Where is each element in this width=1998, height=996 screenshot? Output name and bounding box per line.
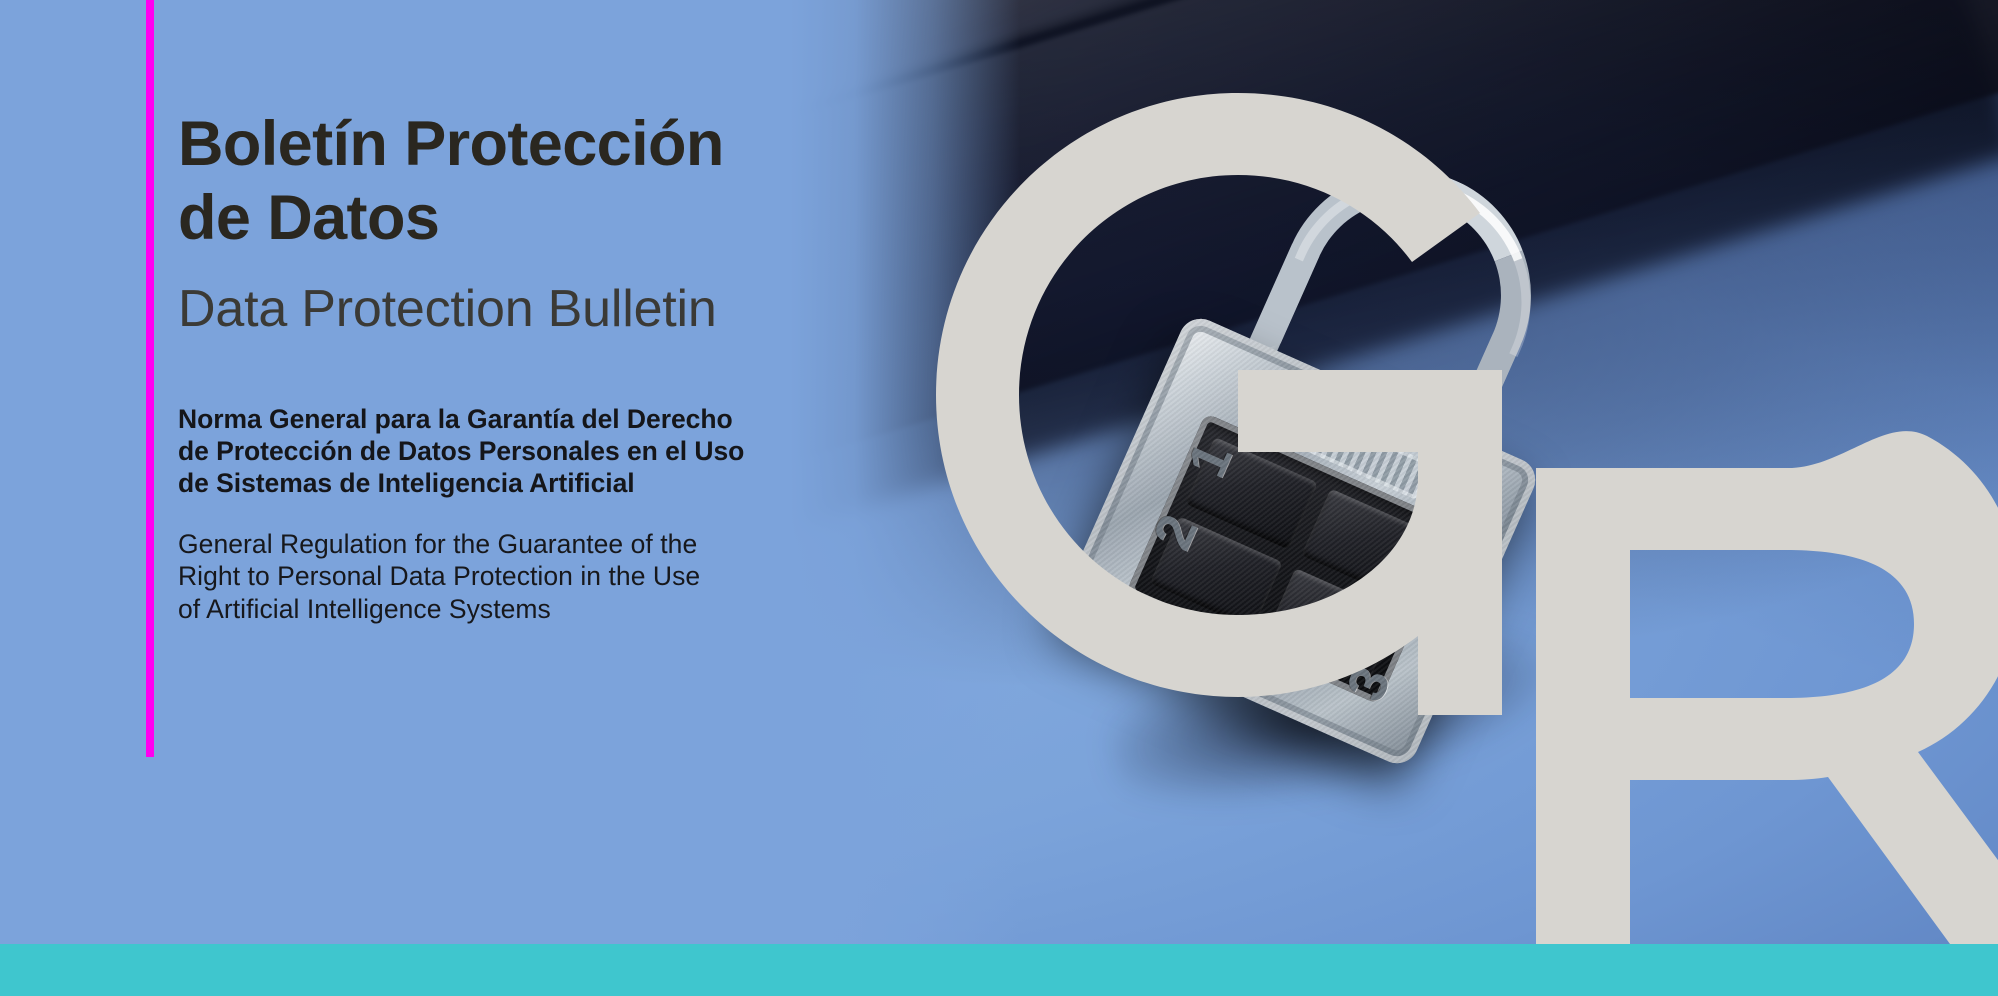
- page-subtitle: Data Protection Bulletin: [178, 281, 938, 338]
- padlock-digit: 3: [1334, 657, 1403, 710]
- padlock-dial: [1301, 489, 1434, 602]
- regulation-title-english: General Regulation for the Guarantee of …: [178, 528, 938, 627]
- padlock-dial: [1150, 516, 1283, 629]
- padlock-dial-window: [1126, 413, 1458, 704]
- page-title: Boletín Protección de Datos: [178, 108, 938, 255]
- data-protection-bulletin-banner: B N J K M O L: [0, 0, 1998, 996]
- padlock-digit: 5: [1397, 545, 1466, 598]
- padlock-dial: [1266, 568, 1399, 681]
- padlock-dial: [1185, 437, 1318, 550]
- padlock-digit: 2: [1141, 506, 1210, 559]
- padlock-digit: 1: [1176, 434, 1245, 487]
- banner-text-column: Boletín Protección de Datos Data Protect…: [178, 0, 938, 626]
- magenta-accent-bar: [146, 0, 154, 757]
- regulation-title-spanish: Norma General para la Garantía del Derec…: [178, 403, 938, 500]
- padlock-knurled-strip: [1256, 392, 1433, 500]
- footer-accent-band: [0, 944, 1998, 996]
